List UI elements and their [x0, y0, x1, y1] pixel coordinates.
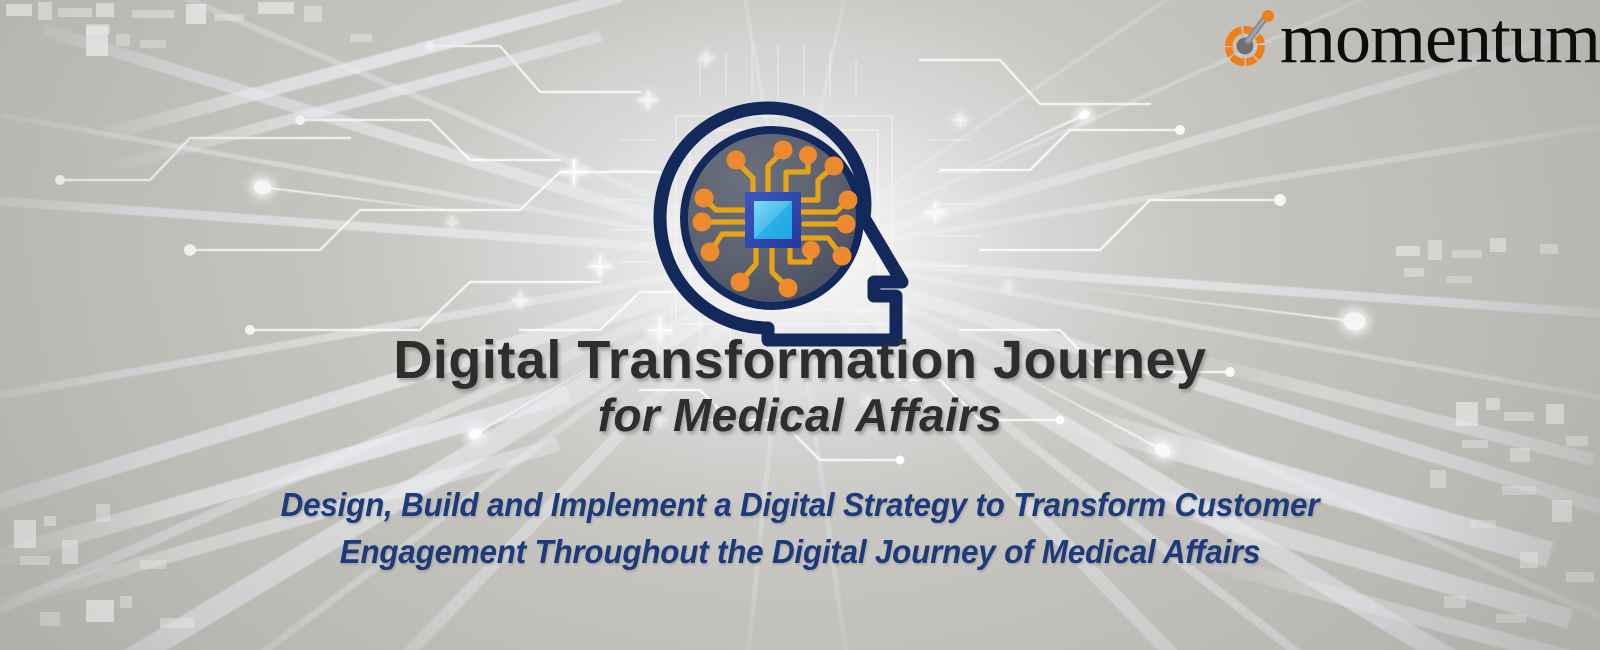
headline-line-2: for Medical Affairs: [0, 390, 1600, 442]
subheadline-line-2: Engagement Throughout the Digital Journe…: [40, 529, 1560, 576]
headline-block: Digital Transformation Journey for Medic…: [0, 332, 1600, 442]
subheadline-line-1: Design, Build and Implement a Digital St…: [40, 482, 1560, 529]
momentum-swirl-icon: [1218, 8, 1280, 70]
momentum-wordmark: momentum: [1280, 9, 1600, 68]
headline-line-1: Digital Transformation Journey: [0, 332, 1600, 388]
ai-head-circuit-icon: [650, 100, 920, 350]
momentum-logo[interactable]: momentum: [1218, 8, 1600, 70]
hero-banner: momentum Digital Transformation Journey …: [0, 0, 1600, 650]
subheadline-block: Design, Build and Implement a Digital St…: [0, 482, 1600, 576]
